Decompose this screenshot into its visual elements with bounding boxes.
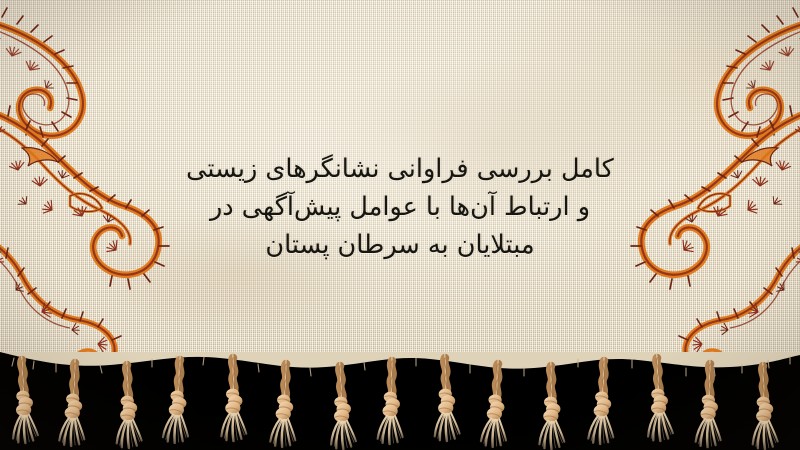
title-line-1: کامل بررسی فراوانی نشانگرهای زیستی [180,150,620,188]
slide-title: کامل بررسی فراوانی نشانگرهای زیستی و ارت… [180,150,620,264]
title-line-2: و ارتباط آن‌ها با عوامل پیش‌آگهی در [180,188,620,226]
tassel-fringe [0,352,800,450]
slide-canvas: کامل بررسی فراوانی نشانگرهای زیستی و ارت… [0,0,800,450]
title-line-3: مبتلایان به سرطان پستان [180,226,620,264]
